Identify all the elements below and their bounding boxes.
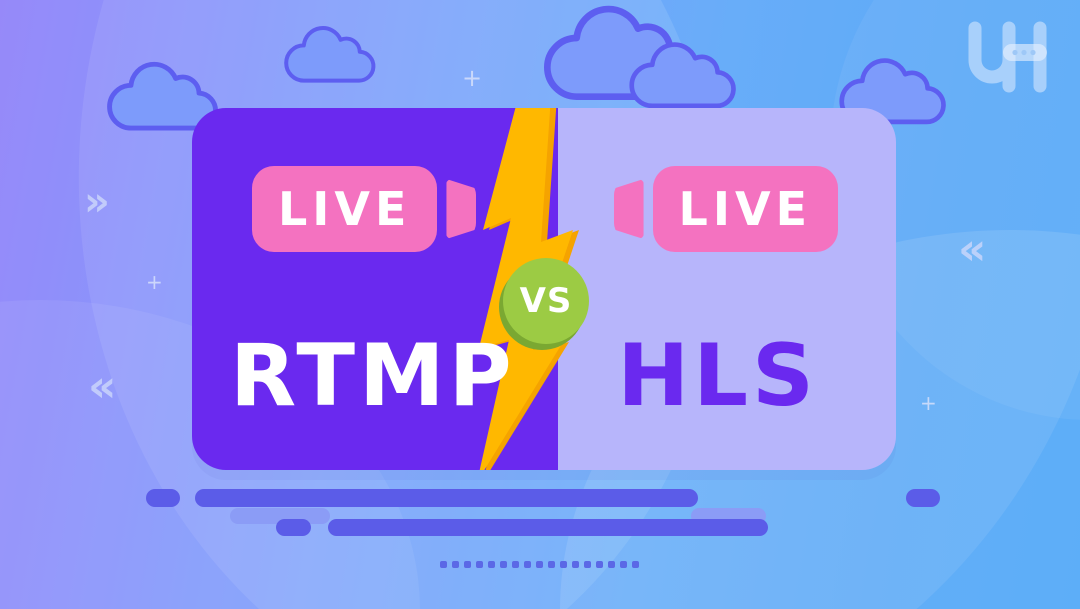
chevron-right-double-upper-left: » [84,182,110,222]
vs-badge-disc: VS [503,258,589,344]
dot [440,561,447,568]
dot [560,561,567,568]
live-label-right: LIVE [679,182,812,236]
poster-canvas: »«« +++ [0,0,1080,609]
cloud-top-center-small [283,26,379,84]
plus-mark-top-center: + [462,66,482,90]
comparison-card: LIVE LIVE RTMP HLS VS [192,108,896,470]
dot [596,561,603,568]
plus-mark-mid-left: + [146,272,163,292]
dot [488,561,495,568]
live-camera-badge-right: LIVE [614,166,838,252]
chevron-left-double-lower-left: « [88,365,116,409]
camera-body-right: LIVE [653,166,838,252]
live-camera-badge-left: LIVE [252,166,476,252]
dot [476,561,483,568]
dot [452,561,459,568]
base-bar-main-top [195,489,698,507]
protocol-title-rtmp: RTMP [230,333,516,419]
dot [572,561,579,568]
dot [512,561,519,568]
vs-label: VS [520,281,573,321]
base-bar-main-bottom [328,519,768,536]
uh-monogram-logo [962,20,1054,94]
camera-lens-left [446,179,476,239]
dot [584,561,591,568]
dot [464,561,471,568]
plus-mark-mid-right: + [920,393,937,413]
base-bar-small-cap [276,519,311,536]
dot [608,561,615,568]
protocol-title-hls: HLS [617,333,818,419]
dot [548,561,555,568]
base-bar-right-cap [906,489,940,507]
camera-body-left: LIVE [252,166,437,252]
dot [632,561,639,568]
dot-row-bottom [440,561,639,568]
chevron-left-double-right: « [958,228,986,272]
vs-badge: VS [499,258,591,350]
dot [500,561,507,568]
base-bar-left-cap [146,489,180,507]
dot [536,561,543,568]
cloud-top-center-right [628,42,740,110]
camera-lens-right [614,179,644,239]
dot [620,561,627,568]
live-label-left: LIVE [278,182,411,236]
dot [524,561,531,568]
